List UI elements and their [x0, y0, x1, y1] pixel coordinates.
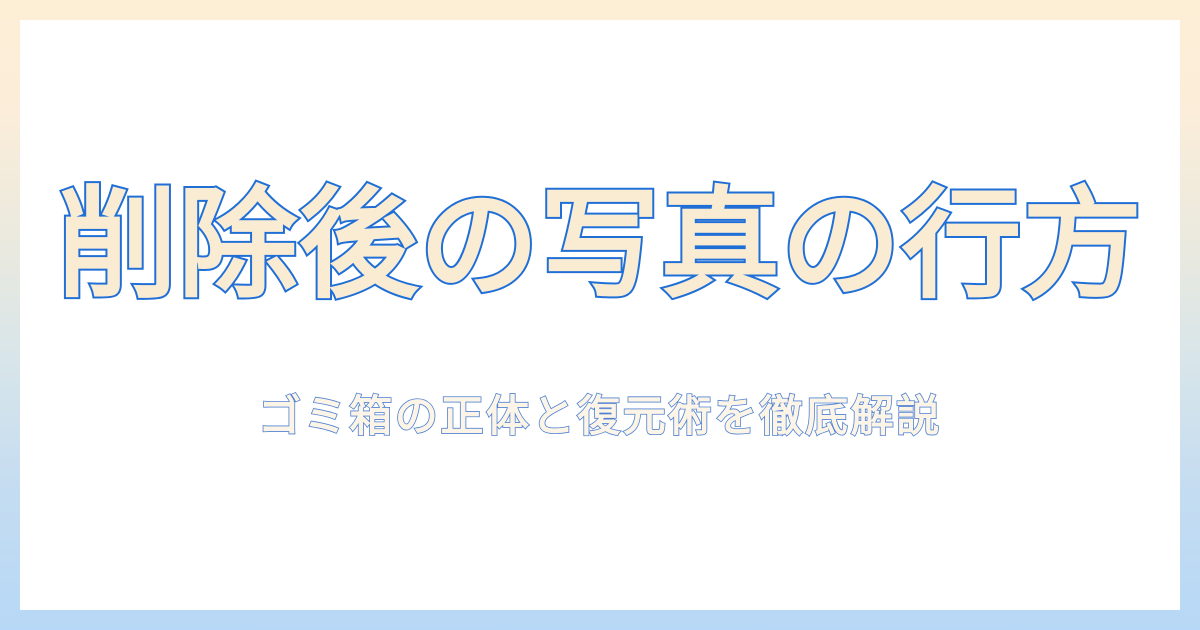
card-canvas: 削除後の写真の行方 ゴミ箱の正体と復元術を徹底解説	[20, 20, 1180, 610]
title-block: 削除後の写真の行方	[20, 175, 1180, 317]
og-card: 削除後の写真の行方 ゴミ箱の正体と復元術を徹底解説	[0, 0, 1200, 630]
page-title: 削除後の写真の行方	[57, 175, 1142, 317]
page-subtitle: ゴミ箱の正体と復元術を徹底解説	[258, 392, 942, 444]
subtitle-block: ゴミ箱の正体と復元術を徹底解説	[20, 392, 1180, 444]
